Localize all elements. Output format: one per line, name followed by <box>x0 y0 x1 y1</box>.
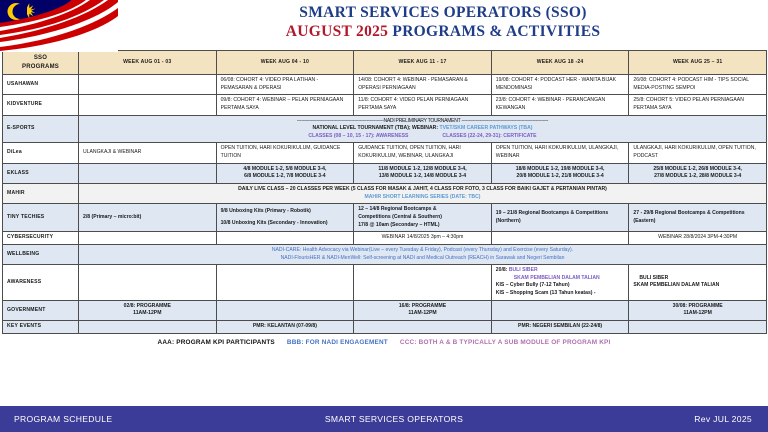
table-row-cybersecurity: CYBERSECURITY WEBINAR 14/8/2025 3pm – 4:… <box>3 232 767 245</box>
table-row-dilea: DiLea ULANGKAJI & WEBINAR OPEN TUITION, … <box>3 143 767 163</box>
cell-government-w1: 02/8: PROGRAMME 11AM-12PM <box>79 300 217 320</box>
cell-dilea-w4: OPEN TUITION, HARI KOKURIKULUM, ULANGKAJ… <box>491 143 629 163</box>
footer-middle: SMART SERVICES OPERATORS <box>250 414 538 424</box>
tiny-techies-w2-line-1: 9/8 Unboxing Kits (Primary - Robotik) <box>221 208 350 216</box>
cell-awareness-w3 <box>354 265 492 301</box>
row-label-cybersecurity: CYBERSECURITY <box>3 232 79 245</box>
column-header-week-3: WEEK AUG 11 - 17 <box>354 51 492 75</box>
footer-right: Rev JUL 2025 <box>538 414 768 424</box>
wellbeing-line-1: NADI-CARE: Health Advocacy via Webinar(L… <box>83 247 762 255</box>
column-header-week-2: WEEK AUG 04 - 10 <box>216 51 354 75</box>
col0-line2: PROGRAMS <box>22 64 59 70</box>
esports-national-label: NATIONAL LEVEL TOURNAMENT (TBA); WEBINAR… <box>312 125 439 131</box>
cell-dilea-w2: OPEN TUITION, HARI KOKURIKULUM, GUIDANCE… <box>216 143 354 163</box>
title-line-1: SMART SERVICES OPERATORS (SSO) <box>118 4 768 22</box>
tiny-techies-w3-line-2: Competitions (Central & Southern) <box>358 214 487 222</box>
header-row: SSO PROGRAMS WEEK AUG 01 - 03 WEEK AUG 0… <box>3 51 767 75</box>
awareness-w5-line-1: BULI SIBER <box>633 275 762 283</box>
cell-key-events-w3 <box>354 321 492 334</box>
cell-kidventure-w4: 23/8: COHORT 4: WEBINAR - PERANCANGAN KE… <box>491 95 629 115</box>
row-label-kidventure: KIDVENTURE <box>3 95 79 115</box>
cell-cybersecurity-w5: WEBINAR 28/8/2024 3PM-4:30PM <box>629 232 767 245</box>
cell-government-w3: 16/8: PROGRAMME 11AM-12PM <box>354 300 492 320</box>
wellbeing-line-2: NADI-FlourisHER & NADI-MenWell: Self-scr… <box>83 255 762 263</box>
row-label-awareness: AWARENESS <box>3 265 79 301</box>
row-label-government: GOVERNMENT <box>3 300 79 320</box>
cell-key-events-w2: PMR: KELANTAN (07-09/8) <box>216 321 354 334</box>
col0-line1: SSO <box>34 55 47 61</box>
legend-row: AAA: PROGRAM KPI PARTICIPANTS BBB: FOR N… <box>0 334 768 350</box>
schedule-page: SMART SERVICES OPERATORS (SSO) AUGUST 20… <box>0 0 768 432</box>
awareness-w4-date: 20/8: <box>496 267 509 273</box>
legend-aaa: AAA: PROGRAM KPI PARTICIPANTS <box>158 339 275 346</box>
awareness-w4-line-1: 20/8: BULI SIBER <box>496 267 625 275</box>
table-row-kidventure: KIDVENTURE 09/8: COHORT 4: WEBINAR – PEL… <box>3 95 767 115</box>
cell-awareness-w2 <box>216 265 354 301</box>
cell-tiny-techies-w2: 9/8 Unboxing Kits (Primary - Robotik) 10… <box>216 204 354 232</box>
row-label-usahawan: USAHAWAN <box>3 75 79 95</box>
table-row-eklass: EKLASS 4/8 MODULE 1-2, 5/8 MODULE 3-4, 6… <box>3 163 767 183</box>
cell-awareness-w5: BULI SIBER SKAM PEMBELIAN DALAM TALIAN <box>629 265 767 301</box>
awareness-w4-topic-1: BULI SIBER <box>509 267 538 273</box>
awareness-w4-line-4: KIS – Shopping Scam (13 Tahun keatas) - <box>496 290 625 298</box>
table-header: SSO PROGRAMS WEEK AUG 01 - 03 WEEK AUG 0… <box>3 51 767 75</box>
row-label-key-events: KEY EVENTS <box>3 321 79 334</box>
cell-cybersecurity-w3: WEBINAR 14/8/2025 3pm – 4:30pm <box>354 232 492 245</box>
cell-mahir-all-weeks: DAILY LIVE CLASS – 20 CLASSES PER WEEK (… <box>79 184 767 204</box>
cell-kidventure-w3: 11/8: COHORT 4: VIDEO PELAN PERNIAGAAN P… <box>354 95 492 115</box>
column-header-week-5: WEEK AUG 25 – 31 <box>629 51 767 75</box>
cell-government-w4 <box>491 300 629 320</box>
tiny-techies-w3-line-3: 17/8 @ 10am (Secondary – HTML) <box>358 222 487 230</box>
cell-dilea-w1: ULANGKAJI & WEBINAR <box>79 143 217 163</box>
cell-dilea-w3: GUIDANCE TUITION, OPEN TUITION, HARI KOK… <box>354 143 492 163</box>
awareness-w4-topic-2: SKAM PEMBELIAN DALAM TALIAN <box>496 275 625 283</box>
cell-key-events-w5 <box>629 321 767 334</box>
cell-cybersecurity-w1 <box>79 232 217 245</box>
cell-tiny-techies-w4: 19 – 21/8 Regional Bootcamps & Competiti… <box>491 204 629 232</box>
esports-line-3: CLASSES (08 – 10, 15 - 17): AWARENESS CL… <box>83 133 762 141</box>
table-row-tiny-techies: TINY TECHIES 2/8 (Primary – micro:bit) 9… <box>3 204 767 232</box>
row-label-mahir: MAHIR <box>3 184 79 204</box>
esports-webinar-topic: TVET/SKM CAREER PATHWAYS (TBA) <box>439 125 532 131</box>
title-subject: PROGRAMS & ACTIVITIES <box>392 23 600 40</box>
cell-government-w2 <box>216 300 354 320</box>
awareness-w4-line-3: KIS – Cyber Bully (7-12 Tahun) <box>496 282 625 290</box>
cell-eklass-w2: 4/8 MODULE 1-2, 5/8 MODULE 3-4, 6/8 MODU… <box>216 163 354 183</box>
cell-kidventure-w2: 09/8: COHORT 4: WEBINAR – PELAN PERNIAGA… <box>216 95 354 115</box>
tiny-techies-w3-line-1: 12 – 14/8 Regional Bootcamps & <box>358 206 487 214</box>
cell-tiny-techies-w1: 2/8 (Primary – micro:bit) <box>79 204 217 232</box>
table-row-government: GOVERNMENT 02/8: PROGRAMME 11AM-12PM 16/… <box>3 300 767 320</box>
table-row-awareness: AWARENESS 20/8: BULI SIBER SKAM PEMBELIA… <box>3 265 767 301</box>
mahir-line-1: DAILY LIVE CLASS – 20 CLASSES PER WEEK (… <box>83 186 762 194</box>
cell-usahawan-w4: 19/08: COHORT 4: PODCAST HER - WANITA BI… <box>491 75 629 95</box>
footer-bar: PROGRAM SCHEDULE SMART SERVICES OPERATOR… <box>0 406 768 432</box>
page-title: SMART SERVICES OPERATORS (SSO) AUGUST 20… <box>118 4 768 41</box>
cell-eklass-w3: 11/8 MODULE 1-2, 12/8 MODULE 3-4, 13/8 M… <box>354 163 492 183</box>
cell-eklass-w4: 18/8 MODULE 1-2, 19/8 MODULE 3-4, 20/8 M… <box>491 163 629 183</box>
malaysia-flag-icon <box>0 0 118 52</box>
cell-tiny-techies-w5: 27 - 29/8 Regional Bootcamps & Competiti… <box>629 204 767 232</box>
table-row-mahir: MAHIR DAILY LIVE CLASS – 20 CLASSES PER … <box>3 184 767 204</box>
cell-key-events-w4: PMR: NEGERI SEMBILAN (22-24/8) <box>491 321 629 334</box>
cell-kidventure-w5: 25/8: COHORT 5: VIDEO PELAN PERNIAGAAN P… <box>629 95 767 115</box>
row-label-wellbeing: WELLBEING <box>3 244 79 264</box>
cell-tiny-techies-w3: 12 – 14/8 Regional Bootcamps & Competiti… <box>354 204 492 232</box>
cell-cybersecurity-w2 <box>216 232 354 245</box>
table-row-esports: E-SPORTS -------------------------------… <box>3 115 767 143</box>
esports-line-1: ----------------------------------------… <box>83 118 762 126</box>
column-header-programs: SSO PROGRAMS <box>3 51 79 75</box>
cell-awareness-w4: 20/8: BULI SIBER SKAM PEMBELIAN DALAM TA… <box>491 265 629 301</box>
table-row-key-events: KEY EVENTS PMR: KELANTAN (07-09/8) PMR: … <box>3 321 767 334</box>
cell-usahawan-w2: 06/08: COHORT 4: VIDEO PRA LATIHAN - PEM… <box>216 75 354 95</box>
cell-esports-all-weeks: ----------------------------------------… <box>79 115 767 143</box>
title-line-2: AUGUST 2025 PROGRAMS & ACTIVITIES <box>118 23 768 41</box>
table-row-usahawan: USAHAWAN 06/08: COHORT 4: VIDEO PRA LATI… <box>3 75 767 95</box>
cell-dilea-w5: ULANGKAJI, HARI KOKURIKULUM, OPEN TUITIO… <box>629 143 767 163</box>
row-label-tiny-techies: TINY TECHIES <box>3 204 79 232</box>
column-header-week-4: WEEK AUG 18 -24 <box>491 51 629 75</box>
page-header: SMART SERVICES OPERATORS (SSO) AUGUST 20… <box>0 0 768 50</box>
awareness-w5-line-2: SKAM PEMBELIAN DALAM TALIAN <box>633 282 762 290</box>
cell-wellbeing-all-weeks: NADI-CARE: Health Advocacy via Webinar(L… <box>79 244 767 264</box>
title-month: AUGUST 2025 <box>286 23 389 40</box>
cell-usahawan-w1 <box>79 75 217 95</box>
table-row-wellbeing: WELLBEING NADI-CARE: Health Advocacy via… <box>3 244 767 264</box>
cell-usahawan-w5: 26/08: COHORT 4: PODCAST HIM - TIPS SOCI… <box>629 75 767 95</box>
cell-cybersecurity-w4 <box>491 232 629 245</box>
cell-awareness-w1 <box>79 265 217 301</box>
row-label-dilea: DiLea <box>3 143 79 163</box>
column-header-week-1: WEEK AUG 01 - 03 <box>79 51 217 75</box>
mahir-line-2: MAHIR SHORT LEARNING SERIES (DATE: TBC) <box>83 194 762 202</box>
legend-bbb: BBB: FOR NADI ENGAGEMENT <box>287 339 388 346</box>
cell-eklass-w1 <box>79 163 217 183</box>
esports-line-2: NATIONAL LEVEL TOURNAMENT (TBA); WEBINAR… <box>83 125 762 133</box>
row-label-eklass: EKLASS <box>3 163 79 183</box>
schedule-table: SSO PROGRAMS WEEK AUG 01 - 03 WEEK AUG 0… <box>2 50 767 334</box>
cell-government-w5: 30/08: PROGRAMME 11AM-12PM <box>629 300 767 320</box>
legend-ccc: CCC: BOTH A & B TYPICALLY A SUB MODULE O… <box>400 339 611 346</box>
cell-key-events-w1 <box>79 321 217 334</box>
footer-left: PROGRAM SCHEDULE <box>0 414 250 424</box>
cell-eklass-w5: 25/8 MODULE 1-2, 26/8 MODULE 3-4, 27/8 M… <box>629 163 767 183</box>
cell-kidventure-w1 <box>79 95 217 115</box>
cell-usahawan-w3: 14/08: COHORT 4: WEBINAR - PEMASARAN & O… <box>354 75 492 95</box>
tiny-techies-w2-line-2: 10/8 Unboxing Kits (Secondary - Innovati… <box>221 220 350 228</box>
row-label-esports: E-SPORTS <box>3 115 79 143</box>
esports-classes-certificate: CLASSES (22-24, 29-31): CERTIFICATE <box>442 133 536 141</box>
esports-classes-awareness: CLASSES (08 – 10, 15 - 17): AWARENESS <box>308 133 408 141</box>
